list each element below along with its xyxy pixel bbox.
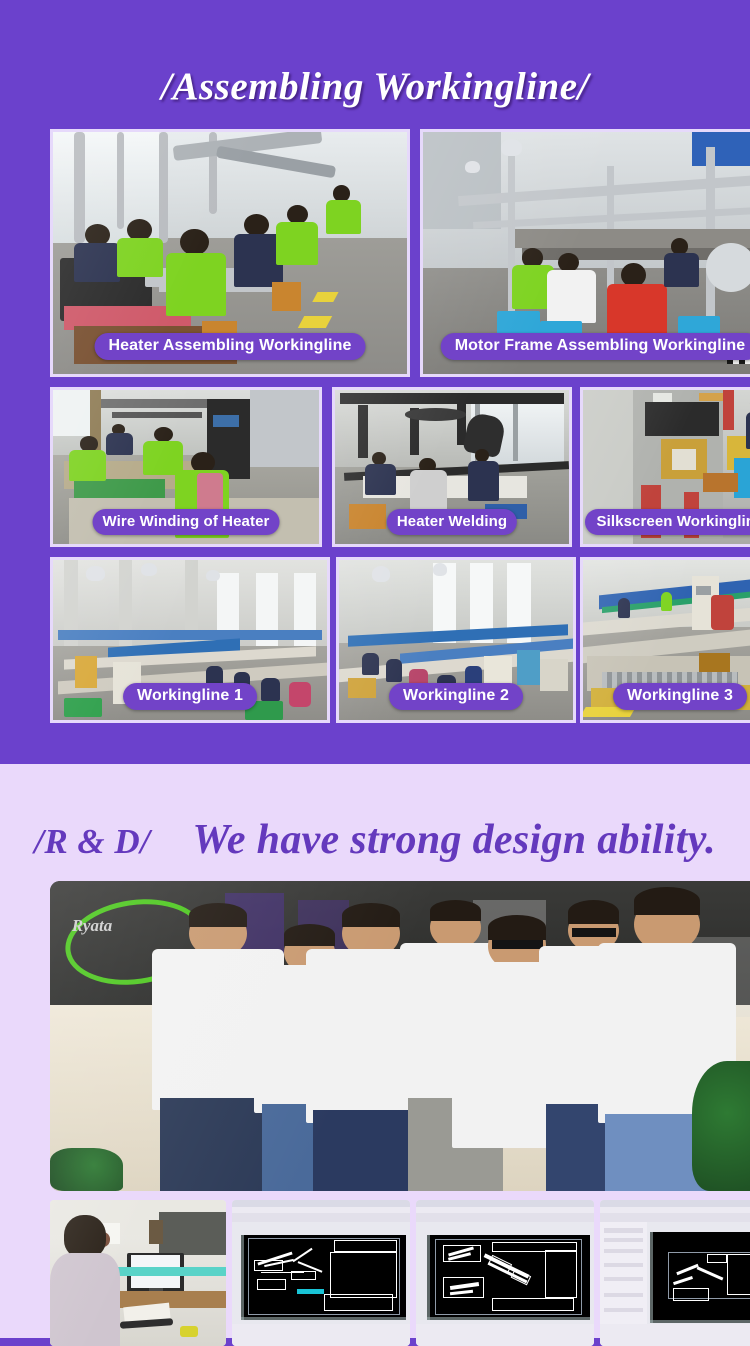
cad-canvas [241, 1235, 407, 1320]
rd-tag-label: /R & D/ [34, 822, 150, 861]
photo-caption: Workingline 3 [613, 683, 747, 710]
cad-window [416, 1200, 594, 1346]
photo-silkscreen-workingline[interactable]: Silkscreen Workingline [580, 387, 750, 547]
photo-caption: Heater Assembling Workingline [95, 333, 366, 360]
photo-rd-team[interactable]: Ryata [50, 881, 750, 1191]
photo-caption: Workingline 1 [123, 683, 257, 710]
photo-heater-welding[interactable]: Heater Welding [332, 387, 572, 547]
cad-canvas [427, 1235, 591, 1320]
photo-workingline-1[interactable]: Workingline 1 [50, 557, 330, 723]
assembling-workingline-section: /Assembling Workingline/ [0, 0, 750, 764]
photo-heater-assembling[interactable]: Heater Assembling Workingline [50, 129, 410, 377]
cad-toolbar [232, 1213, 410, 1222]
thumbnail-cad-drawing-3[interactable] [600, 1200, 750, 1346]
cad-window [600, 1200, 750, 1346]
research-and-development-section: /R & D/ We have strong design ability. R… [0, 764, 750, 1338]
photo-caption: Motor Frame Assembling Workingline [441, 333, 750, 360]
cad-title-bar [600, 1200, 750, 1207]
photo-motor-frame-assembling[interactable]: Motor Frame Assembling Workingline [420, 129, 750, 377]
rd-claim-label: We have strong design ability. [192, 817, 716, 863]
cad-side-panel[interactable] [600, 1222, 647, 1324]
cad-window [232, 1200, 410, 1346]
thumbnail-cad-drawing-2[interactable] [416, 1200, 594, 1346]
cad-status-bar [416, 1324, 594, 1346]
cad-status-bar [232, 1324, 410, 1346]
thumbnail-cad-drawing-1[interactable] [232, 1200, 410, 1346]
rd-section-title: /R & D/ We have strong design ability. [0, 806, 750, 874]
thumbnail-designer-at-computer[interactable] [50, 1200, 226, 1346]
cad-status-bar [600, 1324, 750, 1346]
wall-logo-text: Ryata [72, 921, 160, 952]
photo-caption: Workingline 2 [389, 683, 523, 710]
cad-title-bar [416, 1200, 594, 1207]
cad-toolbar [416, 1213, 594, 1222]
photo-caption: Silkscreen Workingline [585, 509, 750, 535]
cad-toolbar [600, 1213, 750, 1222]
cad-canvas [650, 1232, 750, 1323]
photo-wire-winding-of-heater[interactable]: Wire Winding of Heater [50, 387, 322, 547]
photo-workingline-2[interactable]: Workingline 2 [336, 557, 576, 723]
photo-caption: Wire Winding of Heater [93, 509, 280, 535]
product-detail-page: /Assembling Workingline/ [0, 0, 750, 1338]
cad-title-bar [232, 1200, 410, 1207]
assembling-section-title: /Assembling Workingline/ [0, 56, 750, 118]
photo-workingline-3[interactable]: Workingline 3 [580, 557, 750, 723]
photo-caption: Heater Welding [387, 509, 517, 535]
